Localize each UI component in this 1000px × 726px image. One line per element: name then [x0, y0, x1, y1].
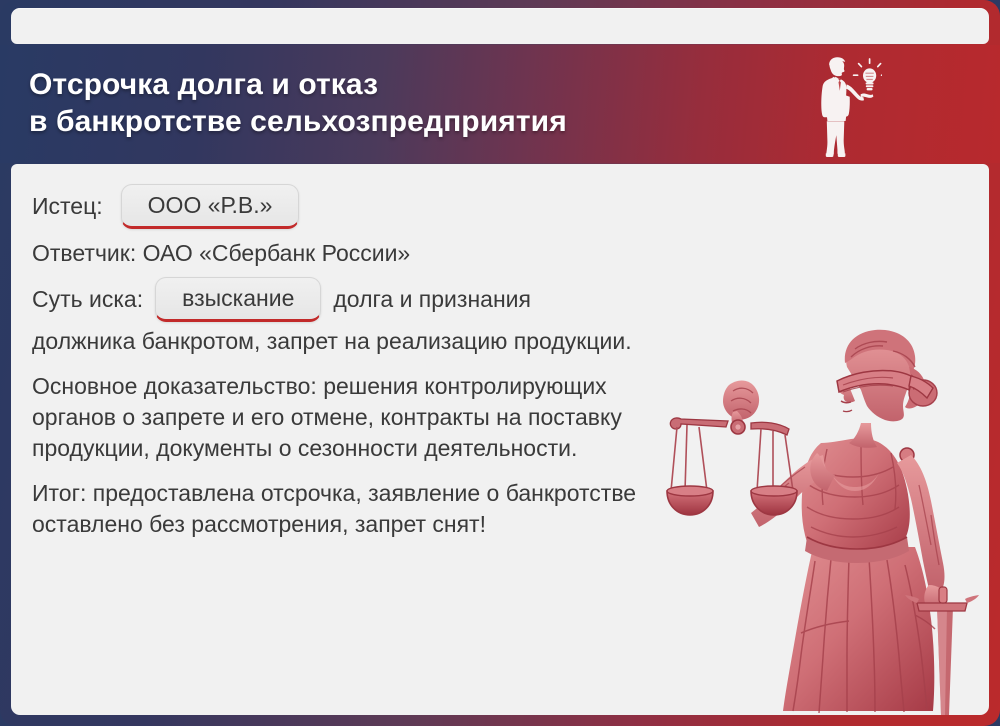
evidence-text: Основное доказательство: решения контрол…	[32, 371, 672, 464]
claim-label: Суть иска:	[32, 284, 143, 314]
outcome-text: Итог: предоставлена отсрочка, заявление …	[32, 478, 672, 540]
defendant-text: Ответчик: ОАО «Сбербанк России»	[32, 238, 410, 268]
header-band: Отсрочка долга и отказ в банкротстве сел…	[0, 45, 1000, 163]
claim-after-chip-text: долга и признания	[333, 284, 531, 314]
lady-justice-statue-illustration	[665, 315, 989, 715]
infographic-card: Отсрочка долга и отказ в банкротстве сел…	[0, 0, 1000, 726]
plaintiff-row: Истец: ООО «Р.В.»	[32, 184, 711, 229]
claim-continuation-text: должника банкротом, запрет на реализацию…	[32, 326, 672, 357]
plaintiff-chip[interactable]: ООО «Р.В.»	[121, 184, 300, 229]
defendant-row: Ответчик: ОАО «Сбербанк России»	[32, 238, 711, 268]
businessman-with-lightbulb-icon	[804, 50, 882, 160]
claim-chip[interactable]: взыскание	[155, 277, 321, 322]
content-panel: Истец: ООО «Р.В.» Ответчик: ОАО «Сбербан…	[11, 164, 989, 715]
top-accent-bar	[11, 8, 989, 44]
text-column: Истец: ООО «Р.В.» Ответчик: ОАО «Сбербан…	[11, 164, 711, 540]
claim-row: Суть иска: взыскание долга и признания	[32, 277, 711, 322]
page-title: Отсрочка долга и отказ в банкротстве сел…	[29, 67, 567, 141]
plaintiff-label: Истец:	[32, 191, 103, 221]
